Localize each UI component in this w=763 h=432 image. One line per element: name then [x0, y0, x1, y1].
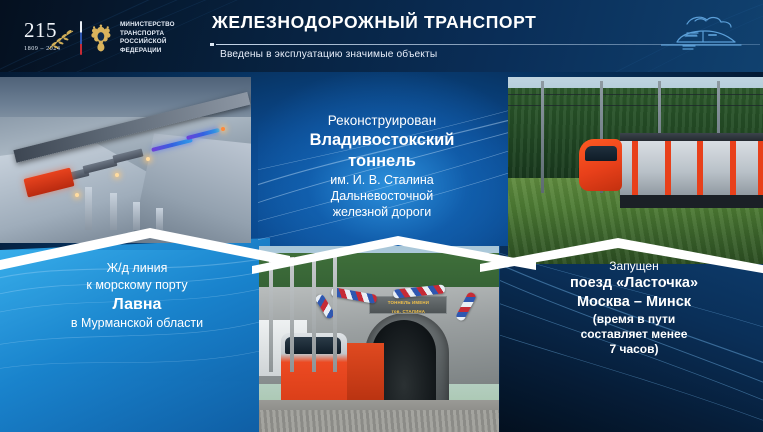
- photo-train-door-stripe: [730, 141, 736, 197]
- lastochka-line-1: Запущен: [510, 258, 758, 274]
- lavna-line-3: Лавна: [12, 294, 262, 315]
- slide-root: ТОННЕЛЬ ИМЕНИ тов. СТАЛИНА Реконструиров…: [0, 0, 763, 432]
- header-title-wrap: ЖЕЛЕЗНОДОРОЖНЫЙ ТРАНСПОРТ: [212, 12, 672, 32]
- lastochka-line-2: поезд «Ласточка»: [510, 274, 758, 293]
- photo-catenary-mast: [269, 257, 273, 372]
- photo-ballast: [259, 410, 499, 432]
- lastochka-line-5: составляет менее: [510, 327, 758, 342]
- photo-train-door-stripe: [665, 141, 671, 197]
- ministry-line-2: РОССИЙСКОЙ ФЕДЕРАЦИИ: [120, 38, 200, 55]
- page-title: ЖЕЛЕЗНОДОРОЖНЫЙ ТРАНСПОРТ: [212, 12, 672, 32]
- text-block-lavna: Ж/д линия к морскому порту Лавна в Мурма…: [12, 260, 262, 332]
- ministry-logo-block: 215 1809 – 2024: [24, 16, 200, 60]
- laurel-branch-icon: [47, 25, 75, 51]
- tunnel-line-3: тоннель: [258, 151, 506, 172]
- russian-coat-of-arms-icon: [89, 21, 113, 55]
- photo-train-windshield: [585, 146, 617, 161]
- text-block-lastochka: Запущен поезд «Ласточка» Москва – Минск …: [510, 258, 758, 357]
- photo-lastochka-train-summer: [508, 77, 763, 264]
- photo-bridge-pier: [133, 202, 140, 230]
- photo-bridge-pier: [85, 187, 92, 230]
- tunnel-line-4: им. И. В. Сталина: [258, 172, 506, 188]
- photo-tunnel-plaque-line2: тов. СТАЛИНА: [370, 306, 446, 315]
- text-block-tunnel: Реконструирован Владивостокский тоннель …: [258, 112, 506, 220]
- tunnel-line-1: Реконструирован: [258, 112, 506, 130]
- photo-bridge-pier: [110, 193, 117, 230]
- tunnel-line-6: железной дороги: [258, 204, 506, 220]
- photo-vladivostok-tunnel: ТОННЕЛЬ ИМЕНИ тов. СТАЛИНА: [259, 246, 499, 432]
- photo-catenary-wire: [508, 105, 763, 106]
- photo-train-door-stripe: [632, 141, 638, 197]
- russian-flag-bar-icon: [80, 21, 82, 55]
- photo-catenary-mast: [312, 257, 316, 372]
- photo-light-point: [146, 157, 150, 161]
- tunnel-line-2: Владивостокский: [258, 130, 506, 151]
- lastochka-line-6: 7 часов): [510, 342, 758, 357]
- photo-catenary-wire: [508, 94, 763, 95]
- photo-catenary-mast: [333, 257, 337, 372]
- ministry-line-1: МИНИСТЕРСТВО ТРАНСПОРТА: [120, 21, 200, 38]
- photo-bridge-pier: [156, 208, 163, 230]
- photo-railway-bridge-winter: [0, 77, 251, 243]
- photo-light-point: [221, 127, 225, 131]
- lastochka-line-3: Москва – Минск: [510, 293, 758, 312]
- lavna-line-2: к морскому порту: [12, 277, 262, 294]
- lavna-line-1: Ж/д линия: [12, 260, 262, 277]
- ministry-name: МИНИСТЕРСТВО ТРАНСПОРТА РОССИЙСКОЙ ФЕДЕР…: [120, 21, 200, 55]
- header-bar: 215 1809 – 2024: [0, 0, 763, 72]
- high-speed-train-icon: [661, 12, 747, 54]
- photo-train-body: [620, 141, 763, 197]
- photo-train-door-stripe: [697, 141, 703, 197]
- photo-train-bogies: [620, 195, 763, 208]
- header-rule-marker: [210, 43, 214, 46]
- lastochka-line-4: (время в пути: [510, 312, 758, 327]
- tunnel-line-5: Дальневосточной: [258, 188, 506, 204]
- photo-tunnel-plaque: ТОННЕЛЬ ИМЕНИ тов. СТАЛИНА: [369, 296, 447, 314]
- photo-catenary-pole: [541, 81, 544, 193]
- photo-tunnel-plaque-line1: ТОННЕЛЬ ИМЕНИ: [370, 297, 446, 306]
- lavna-line-4: в Мурманской области: [12, 315, 262, 332]
- photo-train-door-stripe: [758, 141, 763, 197]
- page-subtitle: Введены в эксплуатацию значимые объекты: [220, 49, 437, 60]
- anniversary-emblem: 215 1809 – 2024: [24, 17, 73, 59]
- photo-catenary-mast: [290, 257, 294, 372]
